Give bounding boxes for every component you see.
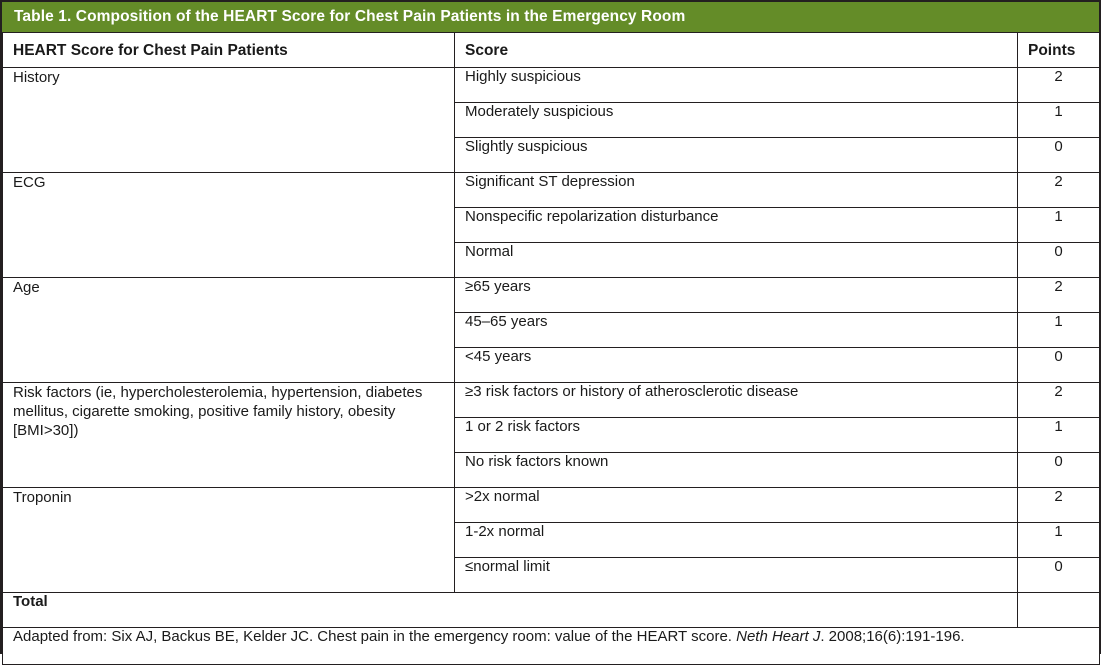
total-label: Total: [3, 593, 1018, 628]
heart-score-table-container: Table 1. Composition of the HEART Score …: [0, 0, 1101, 654]
points-cell: 1: [1018, 208, 1100, 243]
category-cell-ecg: ECG: [3, 173, 455, 278]
score-cell: Significant ST depression: [455, 173, 1018, 208]
points-cell: 2: [1018, 383, 1100, 418]
category-cell-troponin: Troponin: [3, 488, 455, 593]
score-cell: ≤normal limit: [455, 558, 1018, 593]
footnote-prefix: Adapted from: Six AJ, Backus BE, Kelder …: [13, 628, 736, 645]
score-cell: <45 years: [455, 348, 1018, 383]
score-cell: 1-2x normal: [455, 523, 1018, 558]
points-cell: 0: [1018, 558, 1100, 593]
score-cell: ≥65 years: [455, 278, 1018, 313]
score-cell: 1 or 2 risk factors: [455, 418, 1018, 453]
table-header: HEART Score for Chest Pain Patients Scor…: [3, 33, 1100, 68]
footnote-journal: Neth Heart J: [736, 628, 820, 645]
table-row: History Highly suspicious 2: [3, 68, 1100, 103]
table-header-row: HEART Score for Chest Pain Patients Scor…: [3, 33, 1100, 68]
points-cell: 2: [1018, 488, 1100, 523]
points-cell: 0: [1018, 138, 1100, 173]
category-cell-age: Age: [3, 278, 455, 383]
points-cell: 0: [1018, 453, 1100, 488]
column-header-category: HEART Score for Chest Pain Patients: [3, 33, 455, 68]
score-cell: Slightly suspicious: [455, 138, 1018, 173]
score-cell: 45–65 years: [455, 313, 1018, 348]
points-cell: 0: [1018, 243, 1100, 278]
points-cell: 0: [1018, 348, 1100, 383]
total-row: Total: [3, 593, 1100, 628]
column-header-points: Points: [1018, 33, 1100, 68]
footnote-row: Adapted from: Six AJ, Backus BE, Kelder …: [3, 628, 1100, 665]
score-cell: Moderately suspicious: [455, 103, 1018, 138]
footnote-cell: Adapted from: Six AJ, Backus BE, Kelder …: [3, 628, 1100, 665]
points-cell: 1: [1018, 418, 1100, 453]
table-row: Age ≥65 years 2: [3, 278, 1100, 313]
footnote-suffix: . 2008;16(6):191-196.: [820, 628, 964, 645]
points-cell: 1: [1018, 313, 1100, 348]
table-row: Risk factors (ie, hypercholesterolemia, …: [3, 383, 1100, 418]
score-cell: Nonspecific repolarization disturbance: [455, 208, 1018, 243]
points-cell: 2: [1018, 173, 1100, 208]
points-cell: 1: [1018, 523, 1100, 558]
score-cell: No risk factors known: [455, 453, 1018, 488]
table-row: Troponin >2x normal 2: [3, 488, 1100, 523]
score-cell: Normal: [455, 243, 1018, 278]
table-body: History Highly suspicious 2 Moderately s…: [3, 68, 1100, 665]
table-row: ECG Significant ST depression 2: [3, 173, 1100, 208]
total-points-cell: [1018, 593, 1100, 628]
score-cell: ≥3 risk factors or history of atheroscle…: [455, 383, 1018, 418]
score-cell: >2x normal: [455, 488, 1018, 523]
category-cell-history: History: [3, 68, 455, 173]
column-header-score: Score: [455, 33, 1018, 68]
category-cell-risk-factors: Risk factors (ie, hypercholesterolemia, …: [3, 383, 455, 488]
points-cell: 2: [1018, 278, 1100, 313]
points-cell: 1: [1018, 103, 1100, 138]
points-cell: 2: [1018, 68, 1100, 103]
table-caption: Table 1. Composition of the HEART Score …: [2, 2, 1099, 32]
heart-score-table: HEART Score for Chest Pain Patients Scor…: [2, 32, 1100, 665]
score-cell: Highly suspicious: [455, 68, 1018, 103]
